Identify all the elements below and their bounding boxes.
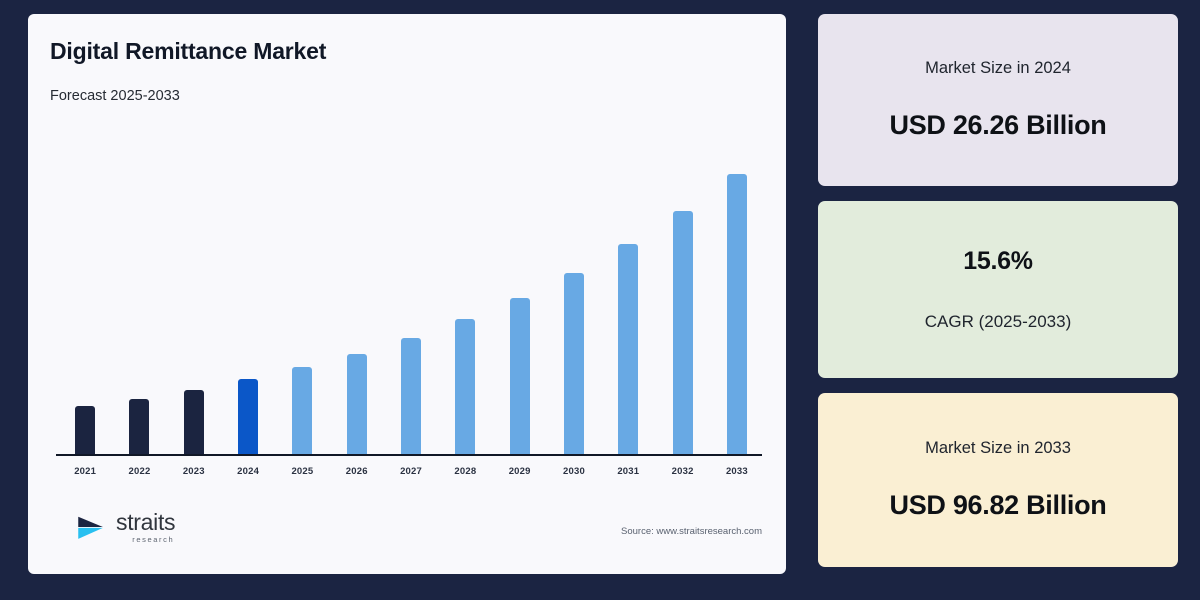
bar-series [52, 144, 770, 456]
plot-area [52, 144, 770, 456]
bar-2031 [618, 244, 638, 456]
bar-slot [655, 144, 709, 456]
bar-slot [58, 144, 112, 456]
bar-slot [167, 144, 221, 456]
x-tick-2030: 2030 [547, 466, 601, 477]
bar-2033 [727, 174, 747, 456]
stat-card-value: USD 26.26 Billion [890, 110, 1107, 141]
logo-word: straits [116, 511, 175, 534]
x-axis-labels: 2021202220232024202520262027202820292030… [52, 466, 770, 477]
bar-slot [710, 144, 764, 456]
page-title: Digital Remittance Market [50, 38, 786, 65]
x-tick-2031: 2031 [601, 466, 655, 477]
source-attribution: Source: www.straitsresearch.com [621, 526, 762, 537]
brand-logo: straits research [74, 510, 175, 544]
bar-slot [221, 144, 275, 456]
bar-slot [275, 144, 329, 456]
bar-2026 [347, 354, 367, 456]
chart-header: Digital Remittance Market Forecast 2025-… [28, 14, 786, 104]
stat-card-label: Market Size in 2024 [925, 59, 1071, 78]
bar-slot [493, 144, 547, 456]
chart-subtitle: Forecast 2025-2033 [50, 88, 786, 104]
bar-slot [330, 144, 384, 456]
bar-2029 [510, 298, 530, 456]
x-axis-line [56, 454, 762, 456]
bar-2024 [238, 379, 258, 456]
x-tick-2022: 2022 [112, 466, 166, 477]
infographic-root: Digital Remittance Market Forecast 2025-… [0, 0, 1200, 600]
x-tick-2026: 2026 [330, 466, 384, 477]
chart-panel: Digital Remittance Market Forecast 2025-… [28, 14, 786, 574]
stat-card-market-size-2033: Market Size in 2033USD 96.82 Billion [818, 393, 1178, 567]
bar-2028 [455, 319, 475, 456]
bar-2032 [673, 211, 693, 456]
stat-card-label: Market Size in 2033 [925, 439, 1071, 458]
bar-2021 [75, 406, 95, 456]
straits-arrow-logo-icon [74, 510, 108, 544]
bar-2023 [184, 390, 204, 456]
x-tick-2032: 2032 [655, 466, 709, 477]
stat-card-value: 15.6% [963, 247, 1032, 276]
x-tick-2023: 2023 [167, 466, 221, 477]
bar-2027 [401, 338, 421, 456]
x-tick-2021: 2021 [58, 466, 112, 477]
x-tick-2025: 2025 [275, 466, 329, 477]
stat-card-value: USD 96.82 Billion [890, 490, 1107, 521]
stat-card-label: CAGR (2025-2033) [925, 312, 1071, 332]
stat-card-market-size-2024: Market Size in 2024USD 26.26 Billion [818, 14, 1178, 186]
bar-slot [112, 144, 166, 456]
logo-wordmark: straits research [116, 511, 175, 544]
stat-card-cagr: 15.6%CAGR (2025-2033) [818, 201, 1178, 378]
bar-2025 [292, 367, 312, 456]
x-tick-2029: 2029 [493, 466, 547, 477]
x-tick-2024: 2024 [221, 466, 275, 477]
bar-slot [547, 144, 601, 456]
bar-slot [438, 144, 492, 456]
bar-slot [384, 144, 438, 456]
x-tick-2027: 2027 [384, 466, 438, 477]
x-tick-2028: 2028 [438, 466, 492, 477]
logo-subtitle: research [132, 536, 174, 544]
stat-card-column: Market Size in 2024USD 26.26 Billion15.6… [818, 14, 1178, 574]
chart-footer: straits research Source: www.straitsrese… [28, 498, 786, 556]
bar-2030 [564, 273, 584, 456]
bar-2022 [129, 399, 149, 456]
bar-slot [601, 144, 655, 456]
x-tick-2033: 2033 [710, 466, 764, 477]
